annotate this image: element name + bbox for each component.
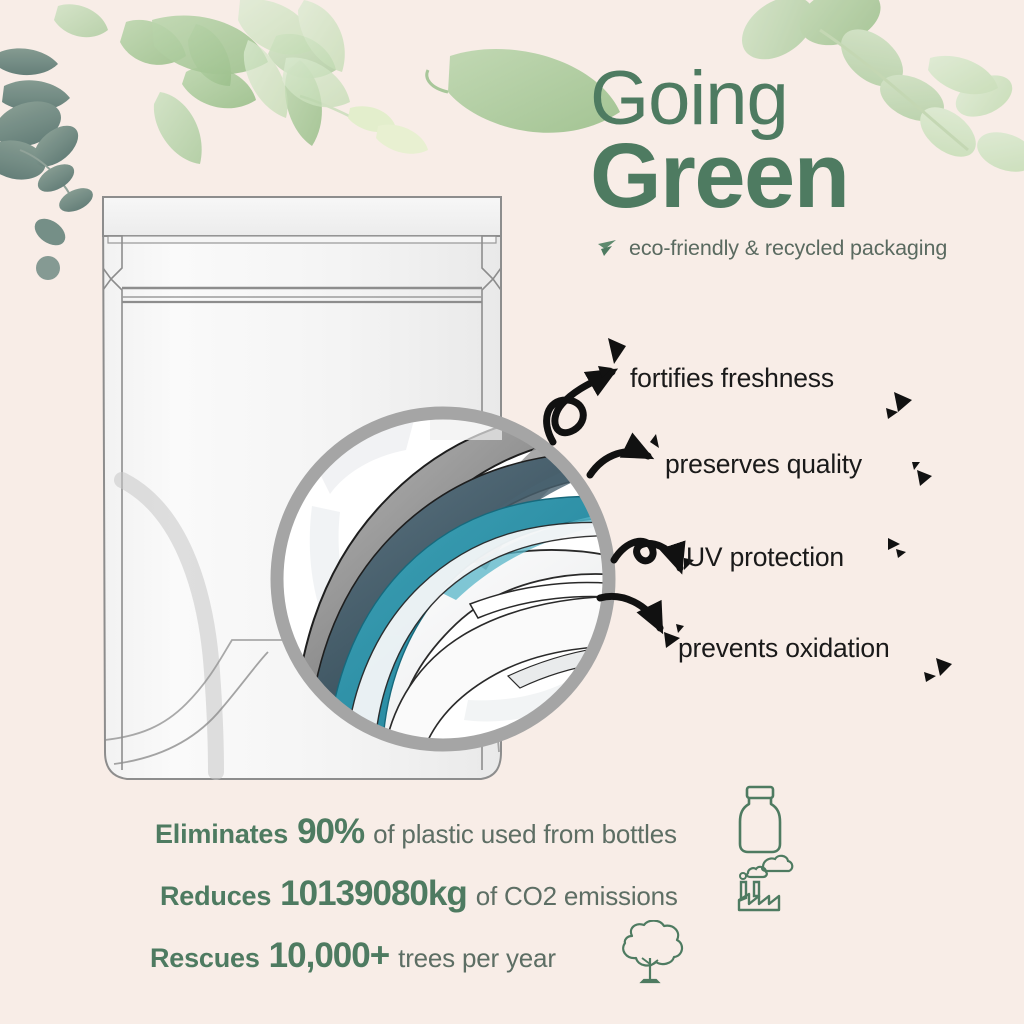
stat-tail: of CO2 emissions: [476, 881, 678, 912]
triangle-accent-icon: [894, 392, 912, 412]
stat-row-rescues: Rescues 10,000+ trees per year: [0, 936, 1024, 998]
triangle-accent-icon: [650, 434, 659, 448]
stat-value: 10,000+: [269, 936, 390, 976]
stat-value: 90%: [297, 812, 364, 852]
stat-lead: Rescues: [150, 943, 260, 974]
subtitle-row: eco-friendly & recycled packaging: [596, 236, 1010, 261]
triangle-accent-icon: [676, 624, 684, 633]
page-subtitle: eco-friendly & recycled packaging: [629, 236, 947, 261]
stats-block: Eliminates 90% of plastic used from bott…: [0, 812, 1024, 998]
feature-label-uv-protection: UV protection: [686, 542, 844, 573]
triangle-accent-icon: [608, 338, 626, 364]
headline-block: Going Green eco-friendly & recycled pack…: [590, 62, 1010, 261]
triangle-accent-icon: [917, 470, 932, 486]
curved-arrow-icon-2: [590, 452, 648, 475]
triangle-accent-icon: [936, 658, 952, 676]
stat-row-reduces: Reduces 10139080kg of CO2 emissions: [0, 874, 1024, 936]
stat-row-eliminates: Eliminates 90% of plastic used from bott…: [0, 812, 1024, 874]
stat-lead: Reduces: [160, 881, 271, 912]
tree-icon: [606, 920, 690, 990]
triangle-accent-icon: [924, 672, 936, 682]
triangle-accent-icon: [896, 549, 906, 558]
triangle-accent-icon: [886, 408, 898, 419]
feature-label-preserves-quality: preserves quality: [665, 449, 862, 480]
curved-arrow-icon-4: [600, 596, 660, 628]
stat-value: 10139080kg: [280, 874, 467, 914]
stat-tail: of plastic used from bottles: [373, 819, 677, 850]
triangle-accent-icon: [912, 462, 920, 470]
loop-arrow-icon-3: [614, 541, 680, 568]
triangle-accent-icon: [596, 237, 620, 259]
page-title-line2: Green: [590, 130, 1010, 222]
infographic-canvas: Going Green eco-friendly & recycled pack…: [0, 0, 1024, 1024]
stat-lead: Eliminates: [155, 819, 288, 850]
feature-label-prevents-oxidation: prevents oxidation: [678, 633, 889, 664]
triangle-accent-icon: [888, 538, 900, 550]
bottle-icon: [732, 784, 788, 856]
factory-smoke-icon: [733, 854, 795, 914]
curly-loop-arrow-icon: [547, 372, 612, 442]
feature-label-fortifies-freshness: fortifies freshness: [630, 363, 834, 394]
stat-tail: trees per year: [398, 943, 556, 974]
